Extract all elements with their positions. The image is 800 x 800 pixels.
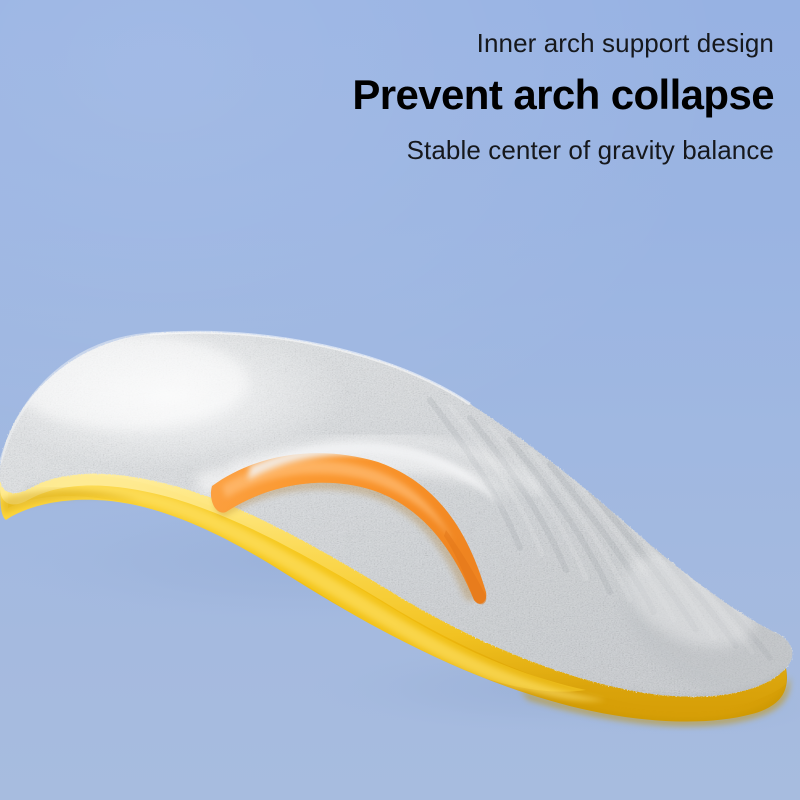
product-banner: Inner arch support design Prevent arch c…: [0, 0, 800, 800]
headline-eyebrow: Inner arch support design: [26, 28, 774, 59]
headline-block: Inner arch support design Prevent arch c…: [26, 28, 774, 165]
headline-title: Prevent arch collapse: [26, 71, 774, 118]
headline-subtitle: Stable center of gravity balance: [26, 135, 774, 166]
